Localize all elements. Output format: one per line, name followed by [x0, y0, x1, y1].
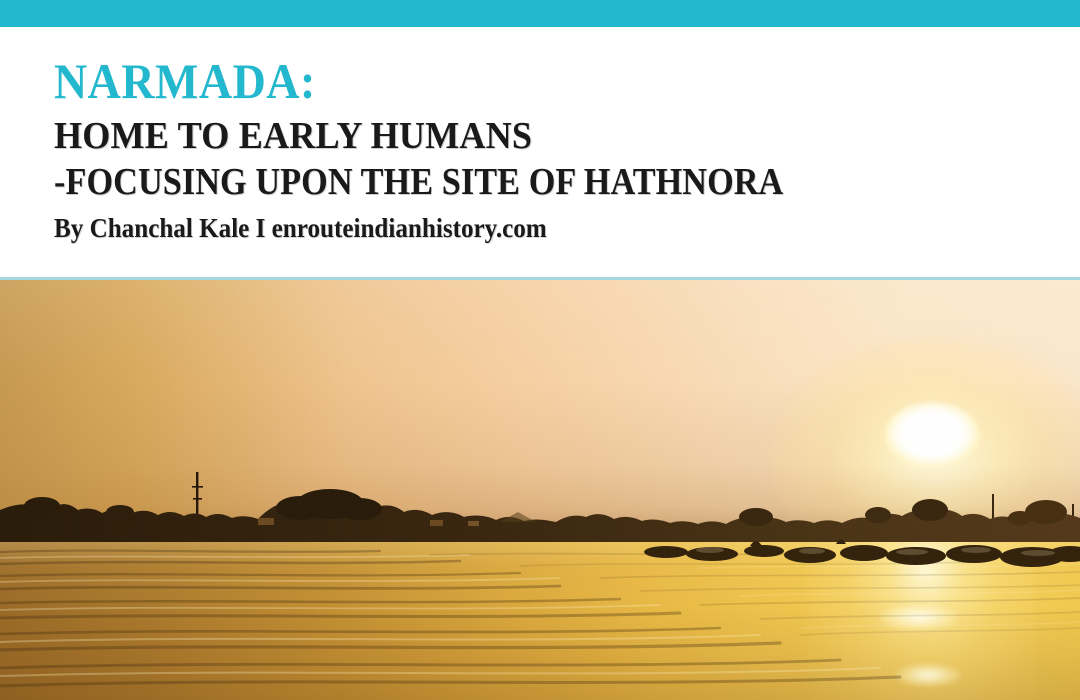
page-title-main: NARMADA:	[54, 54, 316, 108]
byline: By Chanchal Kale I enrouteindianhistory.…	[54, 212, 547, 244]
article-banner: NARMADA: HOME TO EARLY HUMANS -FOCUSING …	[0, 0, 1080, 700]
page-title-line-1: HOME TO EARLY HUMANS	[54, 114, 532, 158]
header-block: NARMADA: HOME TO EARLY HUMANS -FOCUSING …	[0, 27, 1080, 277]
hero-photo	[0, 280, 1080, 700]
page-title-line-2: -FOCUSING UPON THE SITE OF HATHNORA	[54, 160, 783, 204]
rocky-bank	[640, 530, 1080, 578]
sun-icon	[884, 402, 980, 468]
top-accent-bar	[0, 0, 1080, 27]
